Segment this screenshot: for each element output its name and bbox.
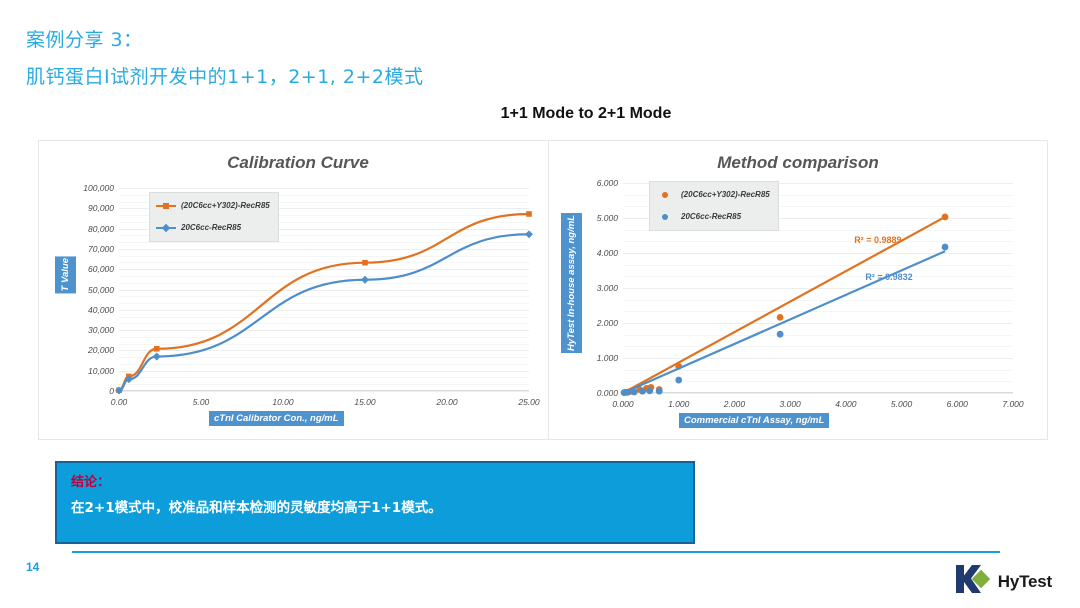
series-marker	[526, 211, 532, 217]
x-axis-tick-label: 10.00	[272, 397, 293, 407]
legend-item-label: 20C6cc-RecR85	[181, 223, 241, 232]
y-axis-tick-label: 10,000	[88, 366, 114, 376]
legend-item[interactable]: 20C6cc-RecR85	[656, 209, 770, 224]
method-y-axis-title: HyTest In-house assay, ng/mL	[561, 213, 582, 353]
legend-item[interactable]: 20C6cc-RecR85	[156, 220, 270, 235]
x-axis-tick-label: 5.000	[891, 399, 912, 409]
x-axis-tick-label: 2.000	[724, 399, 745, 409]
scatter-point	[777, 331, 784, 338]
conclusion-body: 在2+1模式中，校准品和样本检测的灵敏度均高于1+1模式。	[71, 497, 693, 519]
brand-logo: HyTest	[954, 563, 1052, 600]
y-axis-tick-label: 90,000	[88, 203, 114, 213]
heading-line-2: 肌钙蛋白I试剂开发中的1+1，2+1, 2+2模式	[26, 62, 423, 92]
heading-line-1: 案例分享 3：	[26, 26, 423, 54]
method-chart-title: Method comparison	[549, 153, 1047, 173]
legend-key-icon	[656, 190, 676, 199]
x-axis-tick-label: 4.000	[835, 399, 856, 409]
page-number: 14	[26, 560, 39, 574]
legend-key-icon	[156, 223, 176, 232]
series-marker	[362, 260, 368, 266]
scatter-point	[942, 244, 949, 251]
scatter-point	[675, 377, 682, 384]
x-axis-tick-label: 0.00	[111, 397, 128, 407]
calibration-chart-title: Calibration Curve	[39, 153, 557, 173]
y-axis-tick-label: 4.000	[597, 248, 618, 258]
slide-heading: 案例分享 3： 肌钙蛋白I试剂开发中的1+1，2+1, 2+2模式	[26, 26, 423, 92]
hytest-mark-icon	[954, 563, 992, 600]
legend-key-icon	[156, 201, 176, 210]
scatter-point	[624, 389, 631, 396]
x-axis-tick-label: 6.000	[947, 399, 968, 409]
y-axis-tick-label: 100,000	[83, 183, 114, 193]
gridline	[623, 393, 1013, 394]
series-marker	[361, 276, 369, 284]
x-axis-tick-label: 5.00	[193, 397, 210, 407]
legend-item-label: (20C6cc+Y302)-RecR85	[181, 201, 270, 210]
r-squared-annotation: R² = 0.9832	[865, 272, 912, 282]
scatter-point	[631, 389, 638, 396]
method-legend: (20C6cc+Y302)-RecR8520C6cc-RecR85	[649, 181, 779, 231]
conclusion-box: 结论： 在2+1模式中，校准品和样本检测的灵敏度均高于1+1模式。	[55, 461, 695, 544]
section-title: 1+1 Mode to 2+1 Mode	[0, 105, 1080, 123]
conclusion-heading: 结论：	[71, 474, 693, 492]
y-axis-tick-label: 70,000	[88, 244, 114, 254]
calibration-y-axis-title: T Value	[55, 256, 76, 293]
y-axis-tick-label: 0.000	[597, 388, 618, 398]
y-axis-tick-label: 20,000	[88, 345, 114, 355]
series-marker	[525, 230, 533, 238]
x-axis-tick-label: 20.00	[436, 397, 457, 407]
legend-item-label: (20C6cc+Y302)-RecR85	[681, 190, 770, 199]
brand-name: HyTest	[998, 572, 1052, 592]
method-x-axis-title: Commercial cTnI Assay, ng/mL	[679, 413, 829, 428]
x-axis-tick-label: 15.00	[354, 397, 375, 407]
calibration-legend: (20C6cc+Y302)-RecR8520C6cc-RecR85	[149, 192, 279, 242]
calibration-x-axis-title: cTnI Calibrator Con., ng/mL	[209, 411, 344, 426]
y-axis-tick-label: 40,000	[88, 305, 114, 315]
y-axis-tick-label: 3.000	[597, 283, 618, 293]
series-marker	[154, 346, 160, 352]
legend-item-label: 20C6cc-RecR85	[681, 212, 741, 221]
legend-key-icon	[656, 212, 676, 221]
calibration-curve-chart: Calibration Curve 010,00020,00030,00040,…	[38, 140, 558, 440]
section-title-text: 1+1 Mode to 2+1 Mode	[501, 105, 672, 123]
x-axis-tick-label: 3.000	[780, 399, 801, 409]
scatter-point	[646, 388, 653, 395]
legend-item[interactable]: (20C6cc+Y302)-RecR85	[156, 198, 270, 213]
scatter-point	[656, 388, 663, 395]
y-axis-tick-label: 5.000	[597, 213, 618, 223]
x-axis-tick-label: 7.000	[1002, 399, 1023, 409]
y-axis-tick-label: 60,000	[88, 264, 114, 274]
y-axis-tick-label: 50,000	[88, 285, 114, 295]
scatter-point	[777, 314, 784, 321]
y-axis-tick-label: 80,000	[88, 224, 114, 234]
series-line	[119, 234, 529, 390]
x-axis-tick-label: 25.00	[518, 397, 539, 407]
y-axis-tick-label: 6.000	[597, 178, 618, 188]
legend-item[interactable]: (20C6cc+Y302)-RecR85	[656, 187, 770, 202]
series-marker	[153, 353, 161, 361]
scatter-point	[639, 388, 646, 395]
r-squared-annotation: R² = 0.9889	[854, 235, 901, 245]
gridline	[119, 391, 529, 392]
x-axis-tick-label: 1.000	[668, 399, 689, 409]
y-axis-tick-label: 2.000	[597, 318, 618, 328]
scatter-point	[942, 214, 949, 221]
method-comparison-chart: Method comparison 0.0001.0002.0003.0004.…	[548, 140, 1048, 440]
footer-divider	[72, 551, 1000, 553]
y-axis-tick-label: 1.000	[597, 353, 618, 363]
x-axis-tick-label: 0.000	[612, 399, 633, 409]
y-axis-tick-label: 0	[109, 386, 114, 396]
y-axis-tick-label: 30,000	[88, 325, 114, 335]
